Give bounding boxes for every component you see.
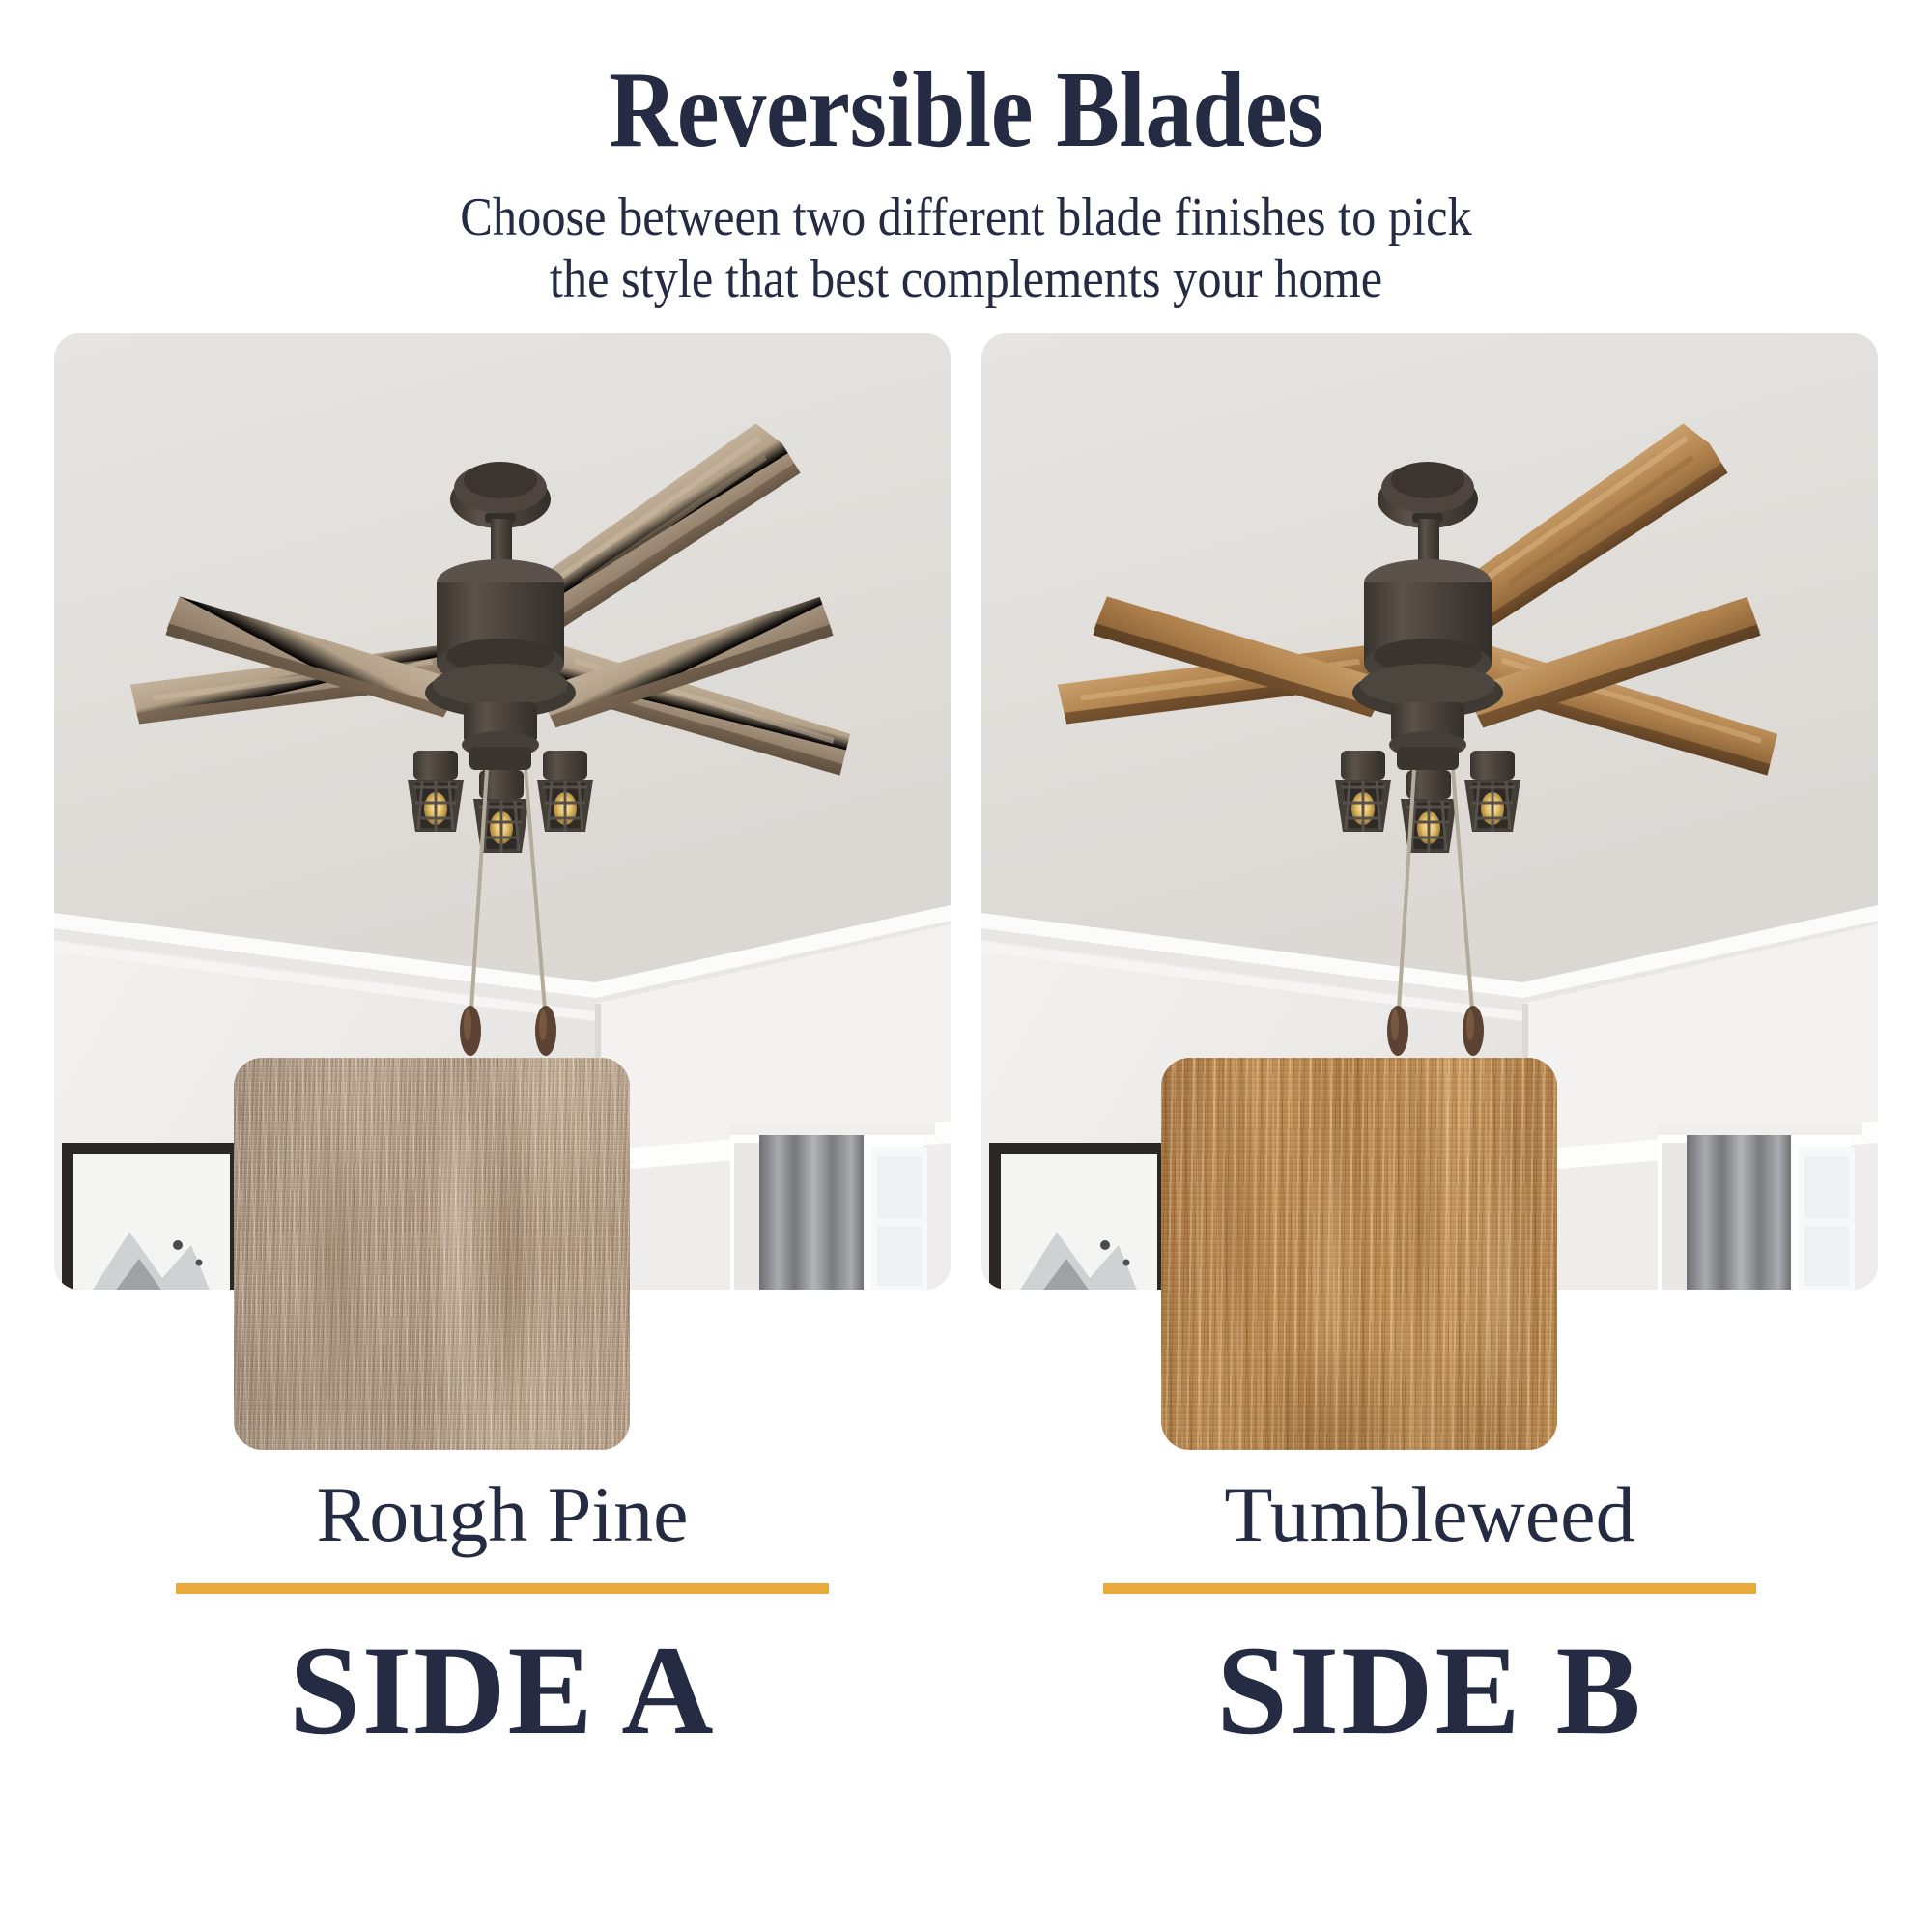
page-subtitle: Choose between two different blade finis… [97, 187, 1835, 311]
light-fixture-left [1335, 751, 1391, 832]
page-subtitle-line-2: the style that best complements your hom… [97, 249, 1835, 311]
finish-panel-side-b[interactable]: Tumbleweed SIDE B [981, 333, 1878, 1879]
finish-name-side-a: Rough Pine [54, 1475, 951, 1554]
caption-side-b: Tumbleweed SIDE B [981, 1475, 1878, 1754]
tumbleweed-swatch-texture [1161, 1058, 1557, 1450]
light-fixture-right [1464, 751, 1520, 832]
page-subtitle-line-1: Choose between two different blade finis… [460, 187, 1471, 247]
page-title: Reversible Blades [116, 56, 1816, 164]
light-fixture-right [537, 751, 593, 832]
caption-side-a: Rough Pine SIDE A [54, 1475, 951, 1754]
side-label-a: SIDE A [54, 1627, 951, 1754]
reversible-blades-infographic: Reversible Blades Choose between two dif… [0, 0, 1932, 1932]
header: Reversible Blades Choose between two dif… [0, 56, 1932, 311]
finish-comparison: Rough Pine SIDE A [0, 333, 1932, 1879]
finish-name-side-b: Tumbleweed [981, 1475, 1878, 1554]
gold-divider-side-b [1103, 1583, 1756, 1594]
light-fixture-left [408, 751, 464, 832]
tumbleweed-swatch [1161, 1058, 1557, 1450]
side-label-b: SIDE B [981, 1627, 1878, 1754]
rough-pine-swatch-texture [234, 1058, 630, 1450]
rough-pine-swatch [234, 1058, 630, 1450]
gold-divider-side-a [176, 1583, 829, 1594]
finish-panel-side-a[interactable]: Rough Pine SIDE A [54, 333, 951, 1879]
